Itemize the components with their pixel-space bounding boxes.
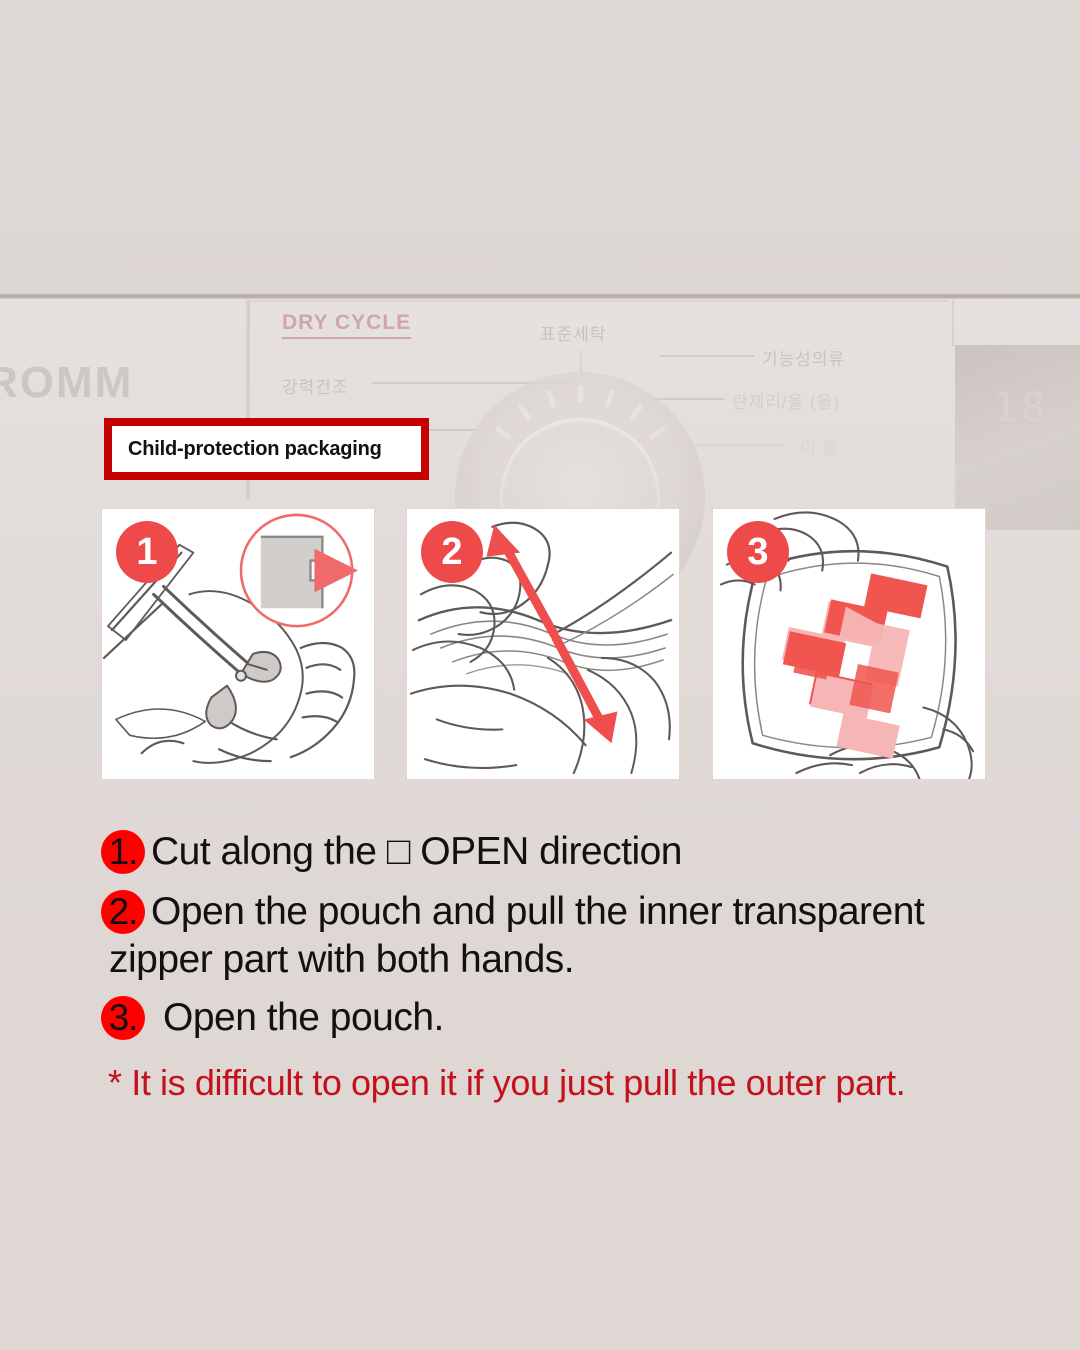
step-text-3: Open the pouch. <box>163 994 444 1040</box>
instruction-step-2: 2. Open the pouch and pull the inner tra… <box>99 888 1029 982</box>
leader-line-3 <box>660 355 754 357</box>
label-ibul: 이 불 <box>800 434 839 459</box>
illustration-panels: 1 <box>101 508 973 780</box>
step-number-badge-2: 2. <box>99 888 147 936</box>
pouch-logo <box>766 559 929 759</box>
panel-step-3: 3 <box>712 508 986 780</box>
display-digits: 18 <box>993 385 1049 431</box>
step-number-badge-1: 1. <box>99 828 147 876</box>
label-lingerie-wool: 란제리/울 (울) <box>732 388 840 413</box>
label-gineungseong-uiryu: 기능성의류 <box>762 345 845 370</box>
instruction-step-1: 1. Cut along the □ OPEN direction <box>99 828 1029 876</box>
panel-number-2: 2 <box>421 521 483 583</box>
label-kangryeok-geonjo: 강력건조 <box>282 373 349 398</box>
dial-tick <box>578 385 583 403</box>
panel-step-2: 2 <box>406 508 680 780</box>
wall-upper <box>0 0 1080 296</box>
step-number-2: 2. <box>109 891 138 933</box>
step-number-1: 1. <box>109 831 138 873</box>
display-module <box>955 345 1080 530</box>
panel-divider-right <box>952 300 954 346</box>
instruction-step-3: 3. Open the pouch. <box>99 994 1029 1042</box>
brand-logo-text: ROMM <box>0 358 133 408</box>
step-number-3: 3. <box>109 997 138 1039</box>
step-text-2: Open the pouch and pull the inner transp… <box>151 888 924 934</box>
warning-note: * It is difficult to open it if you just… <box>108 1062 905 1104</box>
badge-label: Child-protection packaging <box>128 438 382 461</box>
step-number-badge-3: 3. <box>99 994 147 1042</box>
dry-cycle-title: DRY CYCLE <box>282 311 411 339</box>
panel-number-3: 3 <box>727 521 789 583</box>
panel-number-1: 1 <box>116 521 178 583</box>
label-pyojun-setak: 표준세탁 <box>540 320 607 345</box>
panel-step-1: 1 <box>101 508 375 780</box>
instruction-list: 1. Cut along the □ OPEN direction 2. Ope… <box>99 828 1029 1054</box>
step-text-1: Cut along the □ OPEN direction <box>151 828 682 874</box>
child-protection-badge: Child-protection packaging <box>104 418 429 480</box>
step-text-2-continued: zipper part with both hands. <box>109 936 1029 982</box>
